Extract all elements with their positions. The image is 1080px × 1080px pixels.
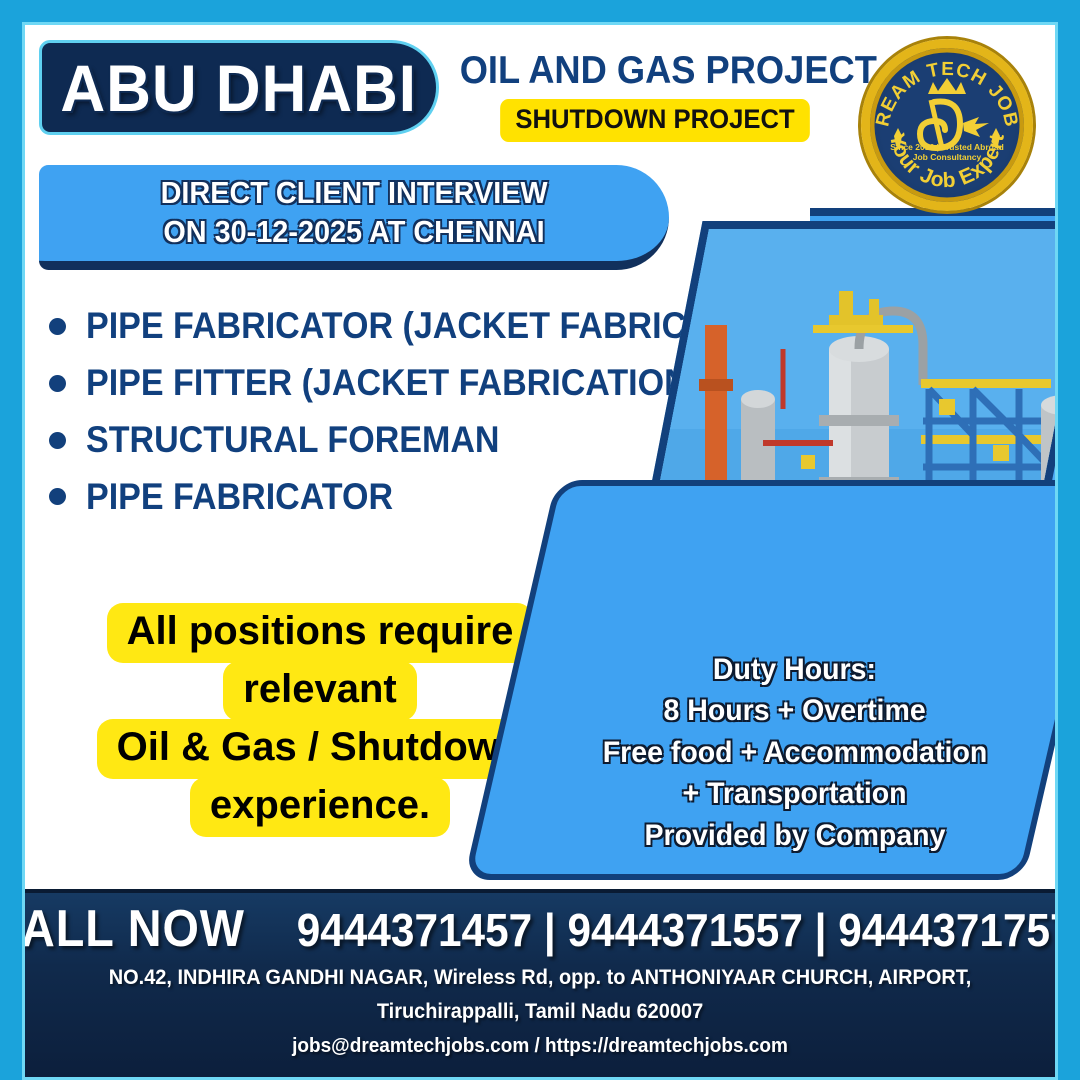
svg-text:Job Consultancy: Job Consultancy [913, 152, 982, 162]
contact-footer: CALL NOW 9444371457 | 9444371557 | 94443… [25, 889, 1055, 1077]
duty-heading: Duty Hours: [713, 649, 876, 690]
requirement-line: Oil & Gas / Shutdown [85, 719, 555, 779]
duty-panel: Duty Hours: 8 Hours + Overtime Free food… [464, 480, 1058, 880]
email-website-line[interactable]: jobs@dreamtechjobs.com / https://dreamte… [51, 1032, 1030, 1061]
job-title: PIPE FABRICATOR [86, 478, 393, 517]
phone-numbers[interactable]: 9444371457 | 9444371557 | 9444371757 [297, 903, 1058, 957]
bullet-icon [49, 432, 66, 449]
duty-line-1: 8 Hours + Overtime [664, 690, 926, 731]
interview-line-2: ON 30-12-2025 AT CHENNAI [163, 213, 544, 252]
company-logo: DREAM TECH JOBS Your Job Expert Since 20… [861, 39, 1033, 211]
country-pill: ABU DHABI [39, 40, 439, 135]
poster-canvas: ABU DHABI OIL AND GAS PROJECT SHUTDOWN P… [22, 22, 1058, 1080]
shutdown-badge: SHUTDOWN PROJECT [500, 99, 810, 142]
list-item: PIPE FABRICATOR (JACKET FABRICATION) [49, 307, 789, 346]
requirement-text: relevant [223, 661, 416, 721]
bullet-icon [49, 318, 66, 335]
project-header: OIL AND GAS PROJECT SHUTDOWN PROJECT [445, 51, 865, 142]
job-title: PIPE FITTER (JACKET FABRICATION) [86, 364, 700, 403]
requirement-text: Oil & Gas / Shutdown [97, 719, 544, 779]
bullet-icon [49, 375, 66, 392]
bullet-icon [49, 488, 66, 505]
logo-artwork: DREAM TECH JOBS Your Job Expert Since 20… [870, 48, 1024, 202]
interview-banner: DIRECT CLIENT INTERVIEW ON 30-12-2025 AT… [39, 165, 669, 270]
requirement-text: experience. [190, 777, 450, 837]
svg-text:Since 2016 | Trusted Abroad: Since 2016 | Trusted Abroad [890, 142, 1004, 152]
call-now-label: CALL NOW [22, 899, 245, 959]
country-title: ABU DHABI [61, 50, 418, 126]
job-title: STRUCTURAL FOREMAN [86, 421, 500, 460]
address-line-2: Tiruchirappalli, Tamil Nadu 620007 [51, 997, 1030, 1027]
requirement-line: All positions require [85, 603, 555, 663]
project-title: OIL AND GAS PROJECT [460, 51, 851, 90]
call-now-row: CALL NOW 9444371457 | 9444371557 | 94443… [25, 899, 1055, 959]
interview-line-1: DIRECT CLIENT INTERVIEW [160, 174, 547, 213]
duty-line-4: Provided by Company [644, 815, 945, 856]
requirement-line: relevant [85, 661, 555, 721]
requirement-text: All positions require [107, 603, 534, 663]
duty-line-2: Free food + Accommodation [602, 732, 987, 773]
duty-line-3: + Transportation [683, 773, 907, 814]
address-line-1: NO.42, INDHIRA GANDHI NAGAR, Wireless Rd… [51, 963, 1030, 993]
duty-panel-content: Duty Hours: 8 Hours + Overtime Free food… [515, 486, 1058, 880]
poster-root: ABU DHABI OIL AND GAS PROJECT SHUTDOWN P… [0, 0, 1080, 1080]
